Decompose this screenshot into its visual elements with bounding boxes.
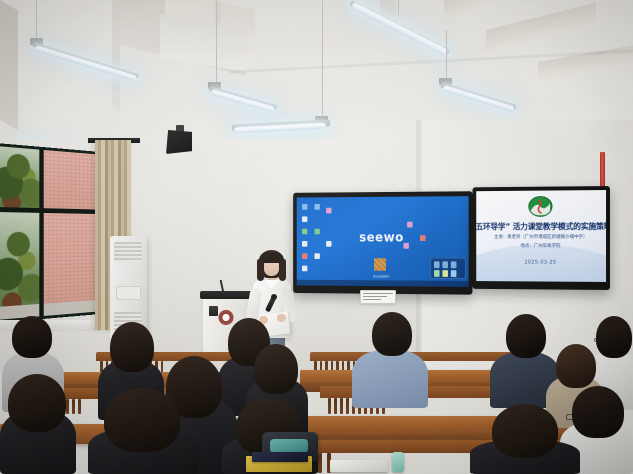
student-7-head — [506, 314, 546, 358]
desktop-icon-11[interactable] — [326, 241, 331, 247]
light-hanger-2 — [216, 0, 217, 84]
wall-speaker — [166, 130, 192, 154]
ceiling-beam-2 — [112, 0, 120, 112]
student-5-head — [254, 344, 298, 394]
seewo-brand-logo: seewo — [359, 231, 404, 245]
widget-cell-3[interactable] — [451, 261, 457, 268]
seewo-screen[interactable]: seewo 希沃传媒助手 — [297, 196, 469, 287]
presentation-display-bezel[interactable]: “五环导学” 活力课堂教学模式的实施策略 主讲：黄老师（广州市增城区新塘镇沙埔中… — [472, 186, 610, 290]
widget-cell-2[interactable] — [442, 261, 448, 268]
presenter-hair-left — [257, 259, 264, 281]
desktop-icon-4[interactable] — [302, 241, 307, 247]
slide-subtitle-location: 地点：广州华商学院 — [520, 243, 560, 249]
classroom-photo-scene: seewo 希沃传媒助手 — [0, 0, 633, 474]
desktop-icon-13[interactable] — [420, 235, 426, 241]
ac-vent-top — [114, 242, 142, 262]
window-pane-upper — [0, 146, 99, 211]
screen-info-placard — [360, 290, 396, 304]
desktop-icon-8[interactable] — [314, 229, 319, 235]
ac-control-panel[interactable] — [116, 286, 141, 300]
paper-stack — [330, 460, 388, 472]
outdoor-building-upper — [41, 150, 99, 211]
presenter-hand-right — [277, 314, 286, 322]
seewo-taskbar[interactable] — [297, 280, 469, 287]
student-11-head — [556, 344, 596, 388]
slide-date: 2025-03-25 — [524, 260, 556, 266]
desktop-icon-12[interactable] — [407, 222, 413, 228]
student-13-head — [572, 386, 624, 438]
placard-line-1 — [363, 293, 393, 294]
desktop-icon-2[interactable] — [302, 216, 307, 222]
student-14-head — [492, 404, 558, 458]
window-mullion-vertical — [39, 150, 43, 317]
presenter-hair-right — [279, 259, 286, 281]
student-8-head — [596, 316, 632, 358]
slide-subtitle-presenter: 主讲：黄老师（广州市增城区新塘镇沙埔中学） — [494, 234, 587, 240]
light-hanger-3 — [322, 0, 323, 118]
student-2-head — [110, 322, 154, 372]
light-hanger-1 — [36, 0, 37, 40]
student-13-glasses — [566, 414, 576, 420]
desktop-icon-10[interactable] — [326, 208, 331, 214]
presenter-microphone-head — [271, 294, 277, 300]
seewo-widget-panel[interactable] — [430, 257, 466, 279]
window-pane-lower — [0, 212, 99, 320]
light-hanger-5 — [446, 30, 447, 80]
interactive-whiteboard-bezel[interactable]: seewo 希沃传媒助手 — [293, 191, 472, 294]
desktop-icon-7[interactable] — [314, 204, 319, 210]
presentation-slide-screen[interactable]: “五环导学” 活力课堂教学模式的实施策略 主讲：黄老师（广州市增城区新塘镇沙埔中… — [476, 190, 606, 282]
placard-line-3 — [363, 299, 381, 300]
widget-cell-4[interactable] — [434, 270, 440, 277]
student-6-head — [372, 312, 412, 356]
ceiling-beam-1 — [0, 0, 18, 130]
desktop-icon-14[interactable] — [403, 243, 409, 249]
placard-line-2 — [363, 296, 387, 297]
student-6-body — [352, 350, 428, 408]
book-dark — [252, 452, 308, 462]
student-1-head — [12, 316, 52, 358]
desktop-icon-1[interactable] — [302, 204, 307, 210]
student-9-head — [8, 374, 66, 432]
seewo-bottom-caption: 希沃传媒助手 — [373, 275, 389, 279]
light-hanger-4 — [398, 0, 399, 16]
water-bottle — [392, 452, 404, 472]
lectern-device[interactable] — [209, 306, 218, 316]
outdoor-building-lower — [43, 213, 99, 304]
seewo-center-tile[interactable] — [374, 258, 386, 271]
ceiling-beam-5 — [444, 0, 534, 20]
student-1-glasses — [44, 338, 51, 342]
ceiling-beam-6 — [486, 3, 596, 52]
desktop-icon-9[interactable] — [314, 253, 319, 259]
widget-cell-5[interactable] — [442, 270, 448, 277]
backpack-panel — [270, 439, 308, 453]
display-wall-mount: seewo 希沃传媒助手 — [293, 186, 610, 296]
window — [0, 143, 101, 323]
slide-title: “五环导学” 活力课堂教学模式的实施策略 — [476, 221, 606, 232]
student-6-glasses — [404, 336, 411, 340]
desktop-icon-3[interactable] — [302, 229, 307, 235]
student-8-glasses — [594, 338, 601, 342]
student-12-head — [104, 388, 180, 452]
lectern-school-emblem — [219, 310, 234, 325]
school-crest-icon — [528, 195, 553, 219]
widget-cell-1[interactable] — [434, 261, 440, 268]
widget-cell-6[interactable] — [451, 270, 457, 277]
